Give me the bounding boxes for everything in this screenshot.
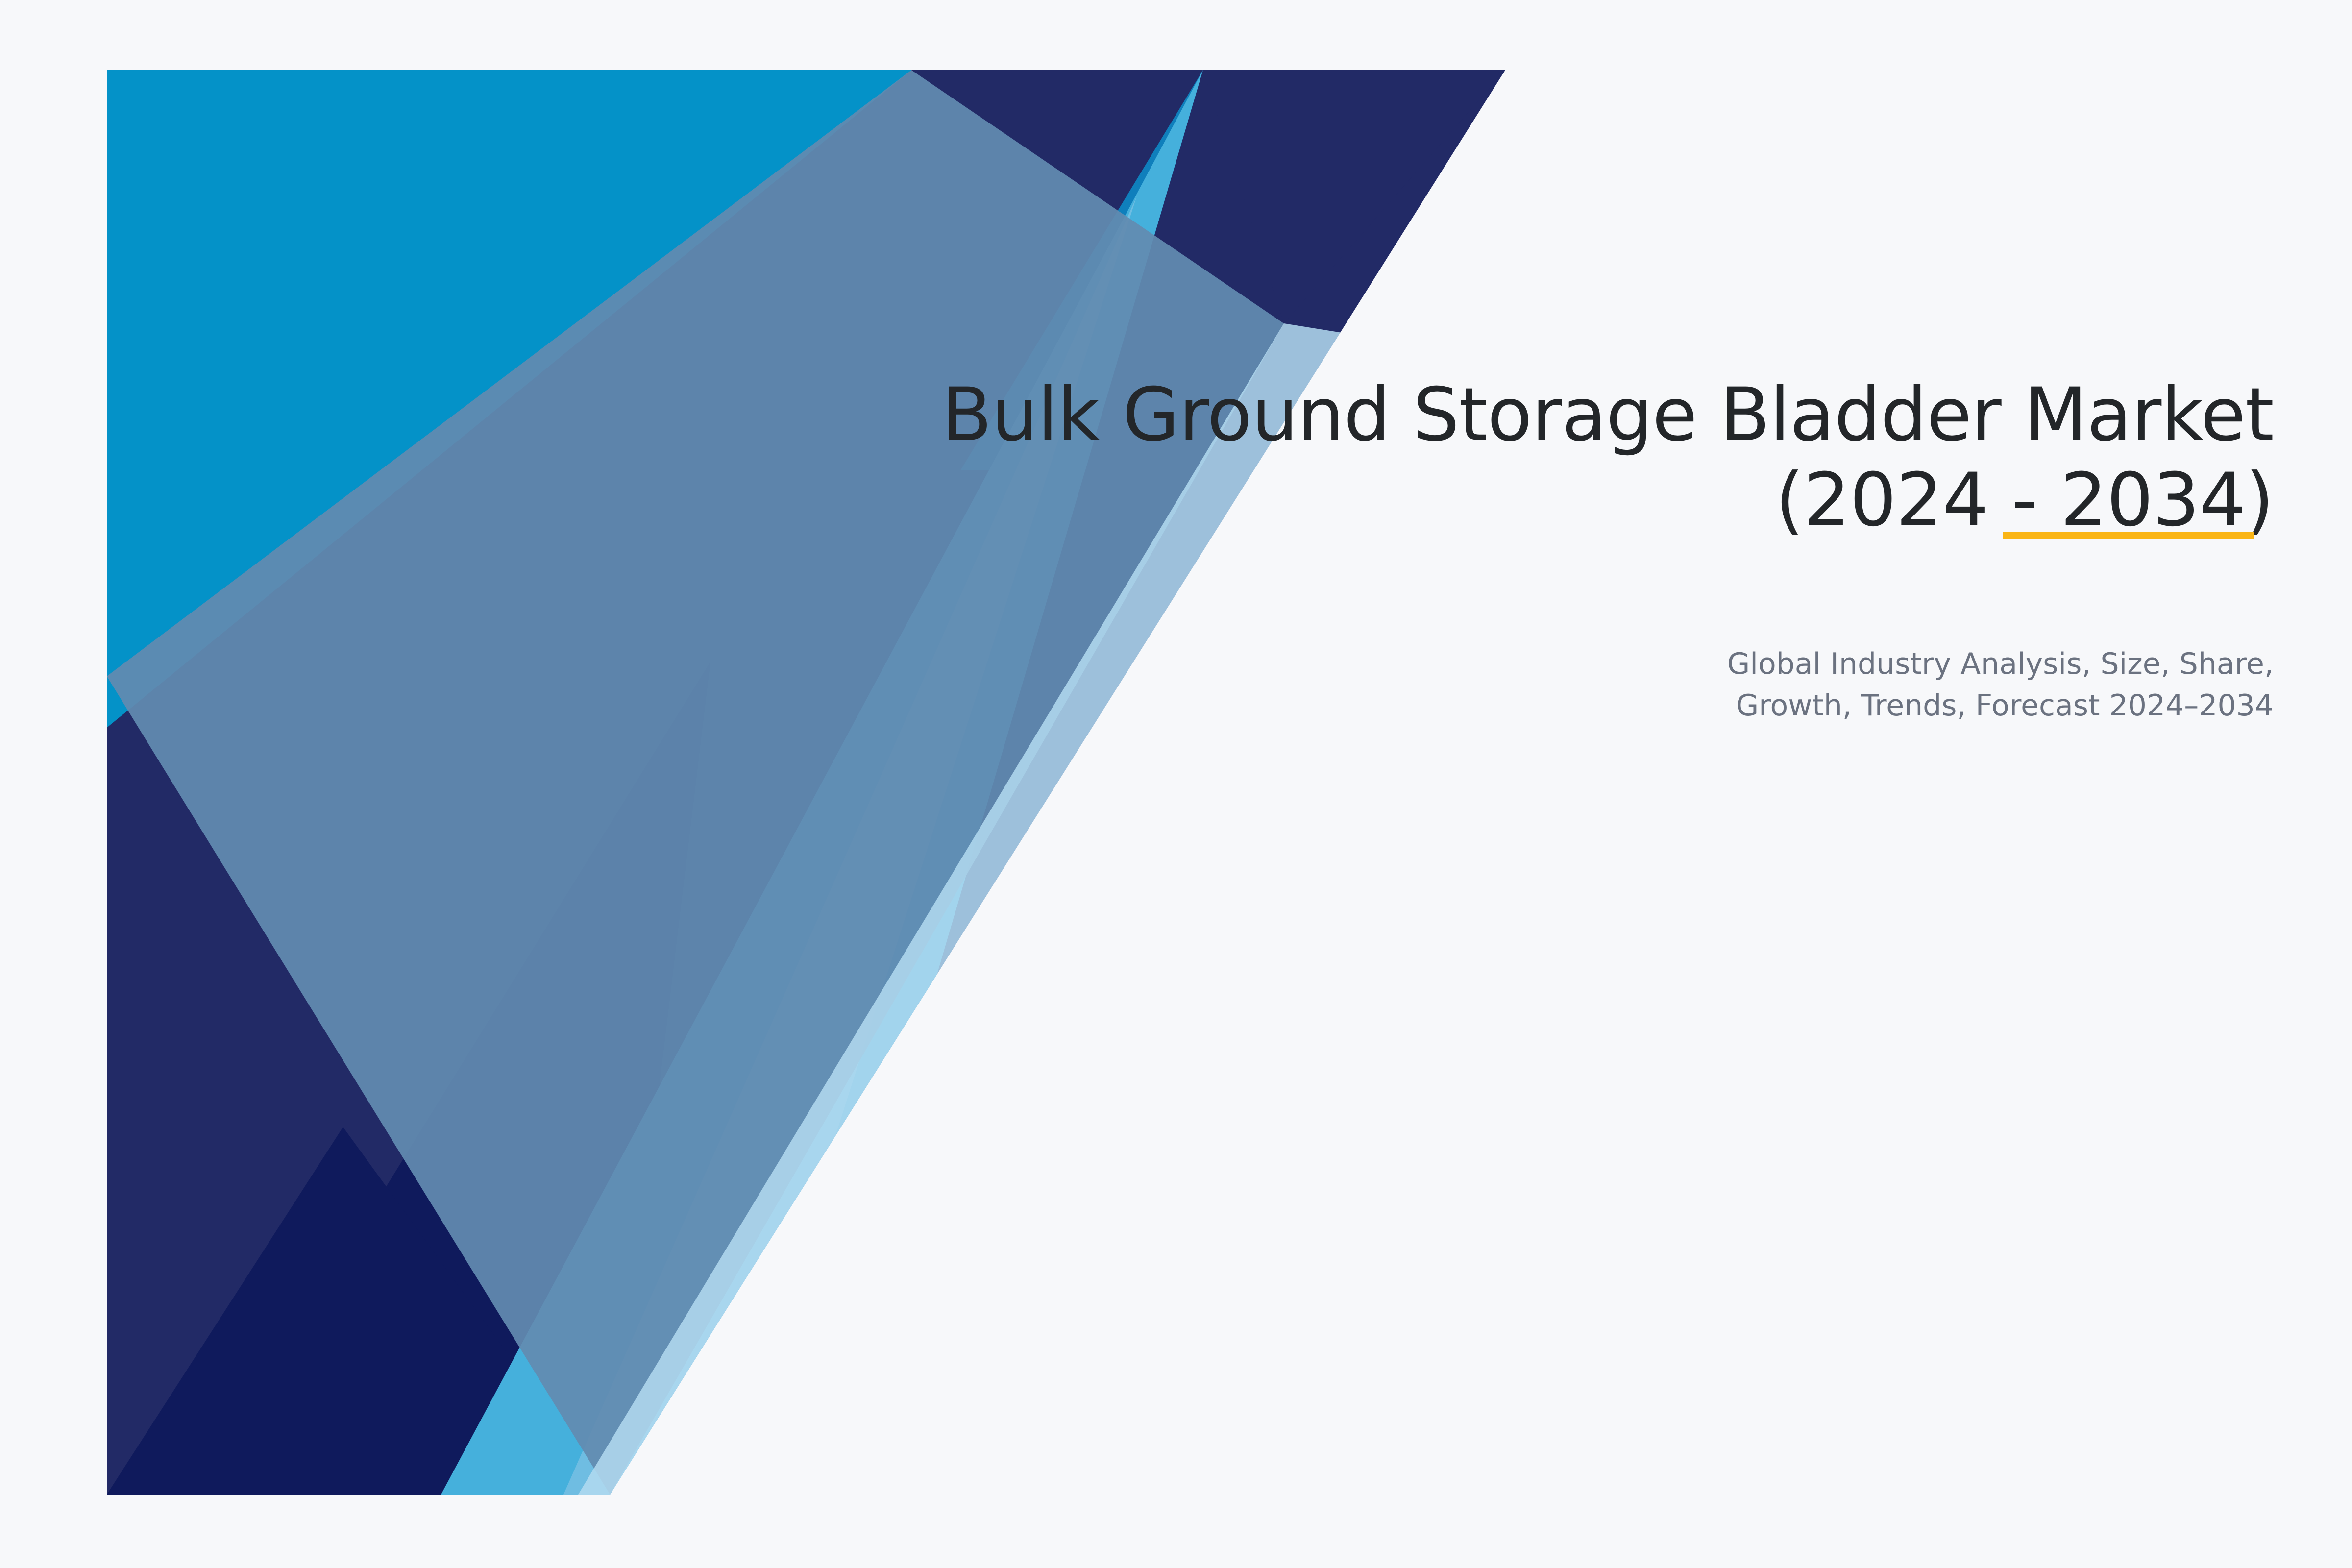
cover-artwork [0, 0, 2352, 1568]
title-highlight-underline [2003, 532, 2254, 539]
page-subtitle: Global Industry Analysis, Size, Share, G… [813, 543, 2274, 727]
page-title: Bulk Ground Storage Bladder Market (2024… [813, 372, 2274, 543]
cover-text-block: Bulk Ground Storage Bladder Market (2024… [813, 372, 2274, 727]
report-cover: Bulk Ground Storage Bladder Market (2024… [0, 0, 2352, 1568]
